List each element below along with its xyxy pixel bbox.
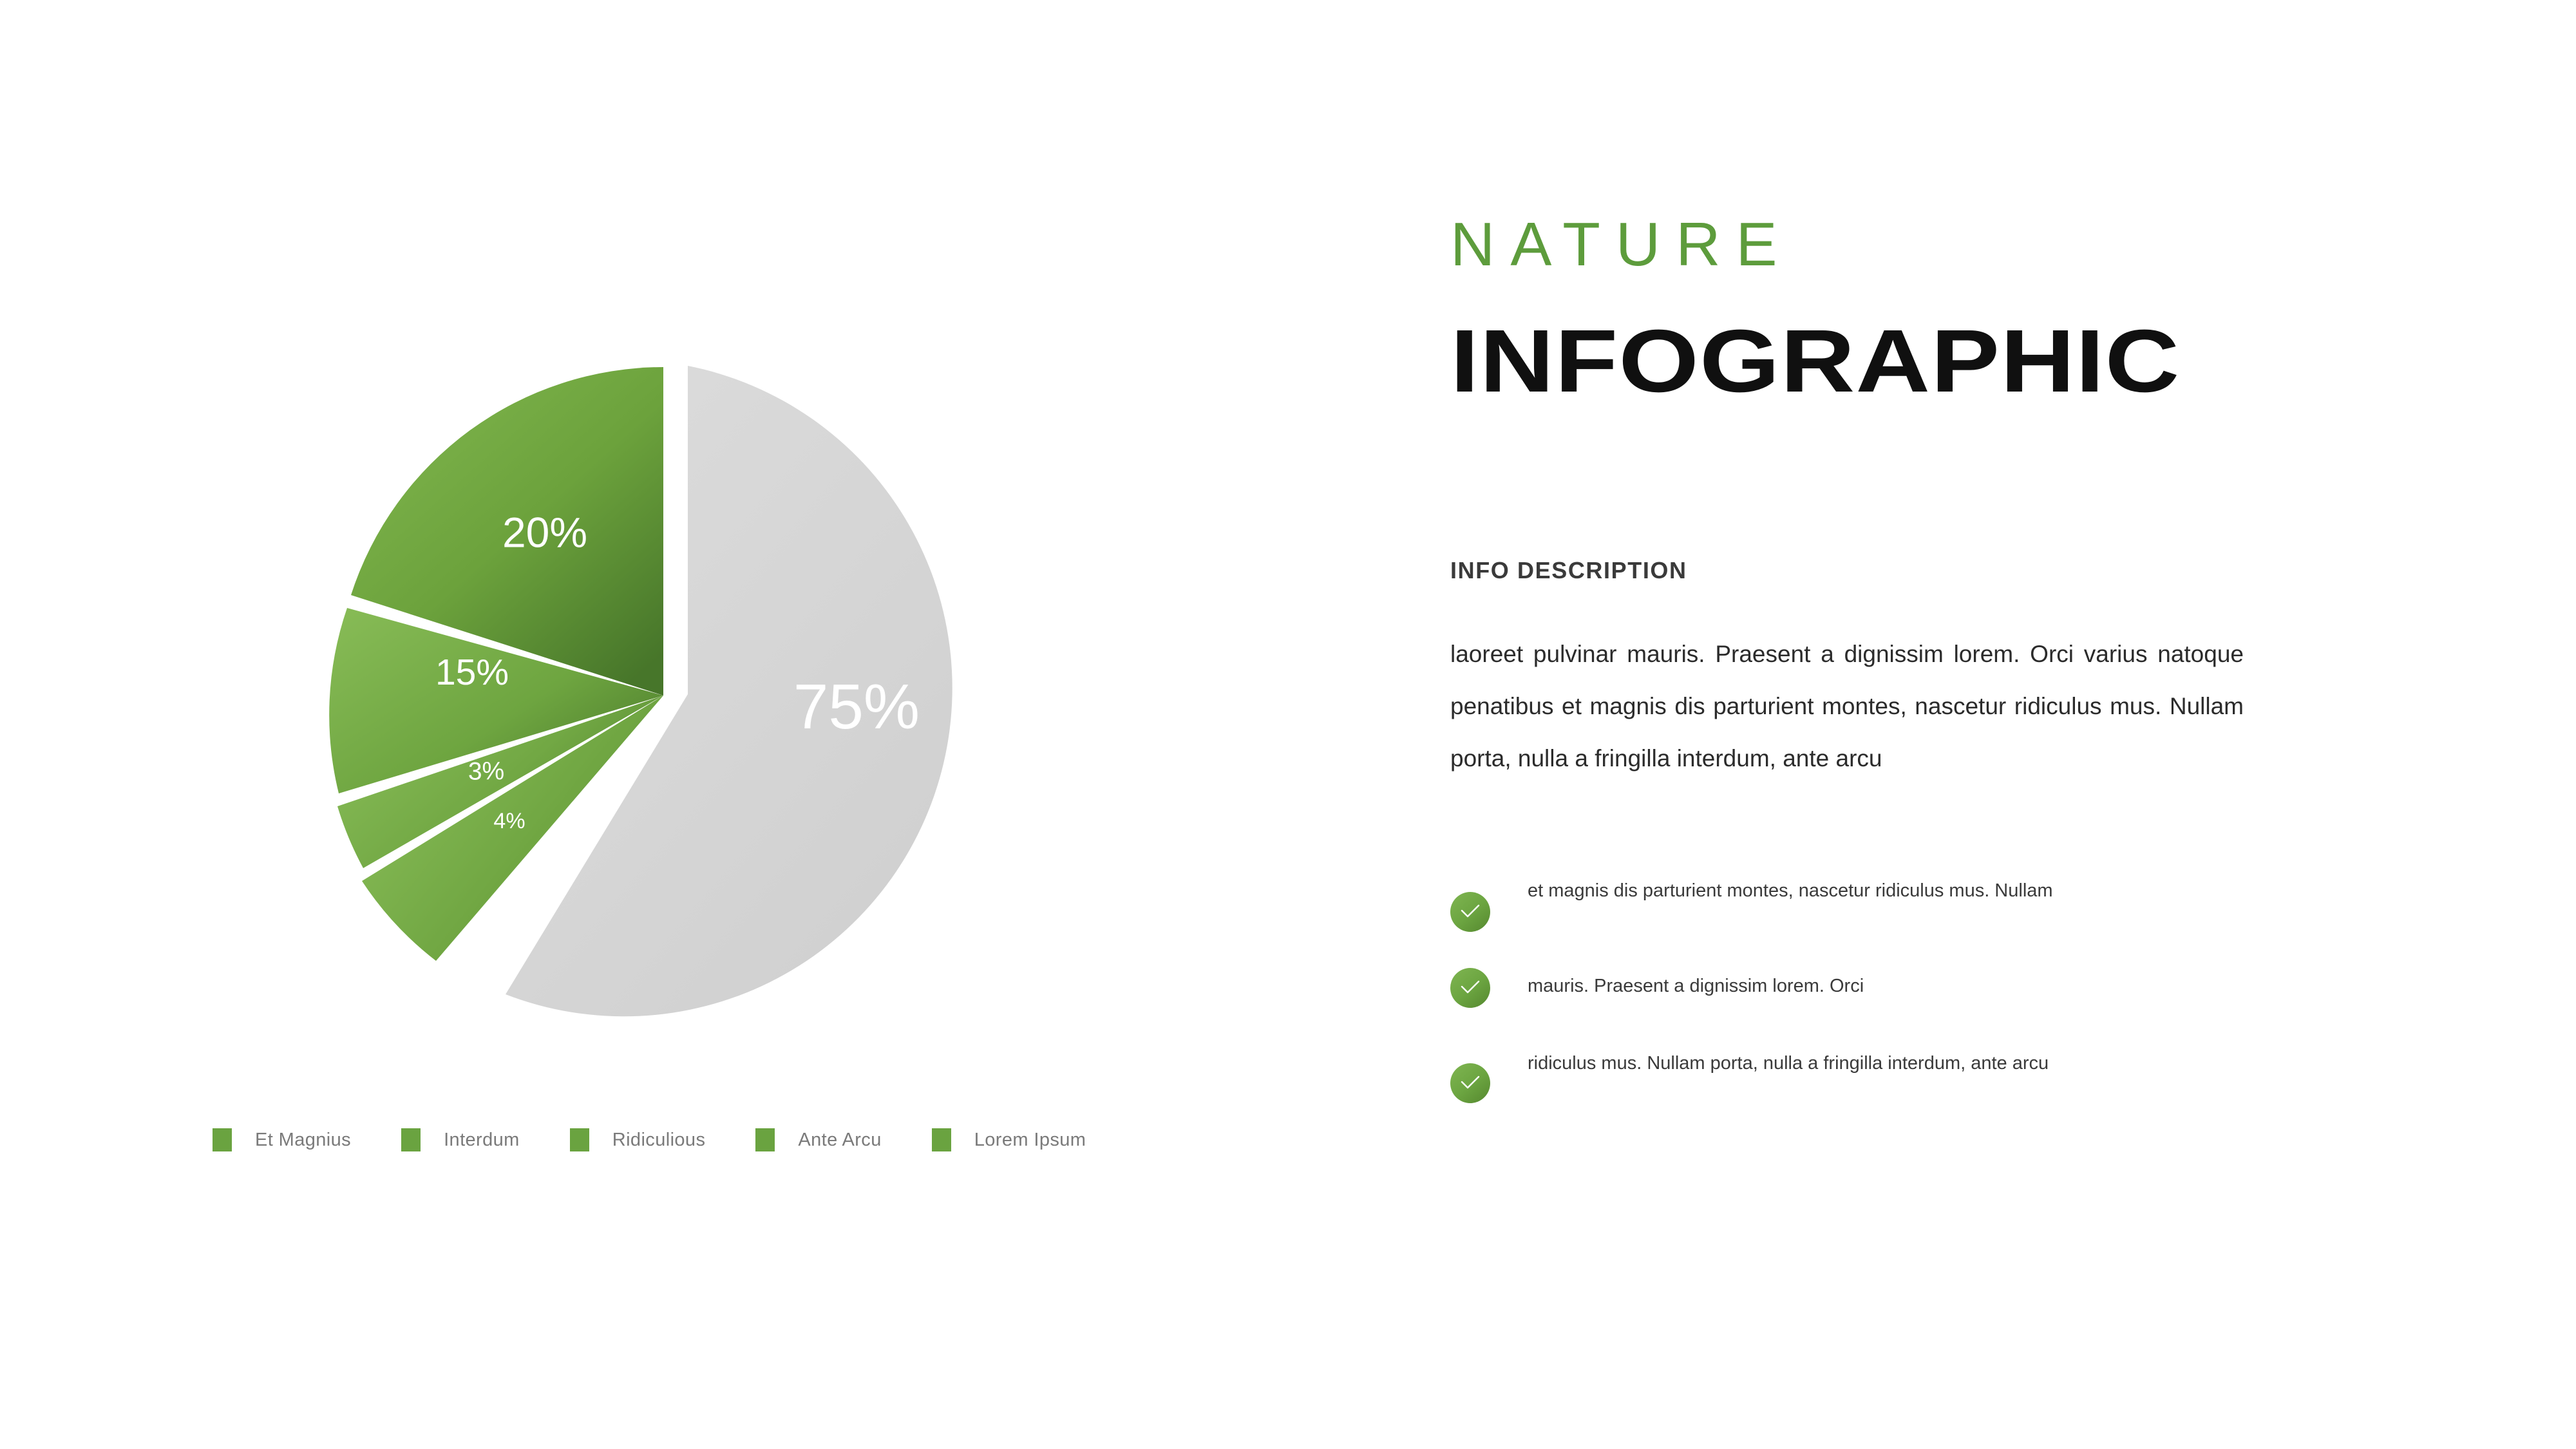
pie-chart: 20% 15% 3% 4% 75% [116,245,1082,1159]
legend-item[interactable]: Lorem Ipsum [932,1128,1086,1151]
check-icon [1450,968,1490,1008]
checklist-item: mauris. Praesent a dignissim lorem. Orci [1450,968,2249,1008]
legend-swatch-icon [213,1128,232,1151]
checklist: et magnis dis parturient montes, nascetu… [1450,871,2249,1103]
page-title: INFOGRAPHIC [1450,317,2180,406]
checklist-item: ridiculus mus. Nullam porta, nulla a fri… [1450,1044,2249,1103]
check-icon [1450,1063,1490,1103]
checklist-item: et magnis dis parturient montes, nascetu… [1450,871,2249,932]
legend-item-label: Et Magnius [255,1130,351,1151]
legend-swatch-icon [932,1128,951,1151]
legend-item[interactable]: Ante Arcu [755,1128,881,1151]
legend-item[interactable]: Interdum [401,1128,520,1151]
legend-swatch-icon [570,1128,589,1151]
legend-item[interactable]: Ridiculious [570,1128,706,1151]
title-eyebrow: NATURE [1450,214,1793,276]
check-icon [1450,892,1490,932]
legend-swatch-icon [755,1128,775,1151]
chart-legend: Et Magnius Interdum Ridiculious Ante Arc… [213,1128,1136,1151]
legend-item-label: Ridiculious [612,1130,706,1151]
checklist-item-label: mauris. Praesent a dignissim lorem. Orci [1528,967,2146,1005]
pie-label-ridiculious: 3% [468,757,504,785]
pie-label-ante-arcu: 4% [493,809,525,833]
content-panel: NATURE INFOGRAPHIC INFO DESCRIPTION laor… [1450,0,2249,1449]
legend-item-label: Ante Arcu [798,1130,881,1151]
pie-label-interdum: 15% [435,652,509,693]
pie-label-et-magnius: 20% [502,508,587,556]
info-description-heading: INFO DESCRIPTION [1450,557,1687,584]
legend-swatch-icon [401,1128,421,1151]
chart-panel: 20% 15% 3% 4% 75% Et Magnius Interdum Ri… [0,0,1352,1449]
info-description-text: laoreet pulvinar mauris. Praesent a dign… [1450,628,2244,784]
checklist-item-label: ridiculus mus. Nullam porta, nulla a fri… [1528,1044,2146,1083]
pie-label-lorem-ipsum: 75% [793,671,920,742]
legend-item-label: Interdum [444,1130,520,1151]
checklist-item-label: et magnis dis parturient montes, nascetu… [1528,871,2146,910]
legend-item[interactable]: Et Magnius [213,1128,351,1151]
legend-item-label: Lorem Ipsum [974,1130,1086,1151]
